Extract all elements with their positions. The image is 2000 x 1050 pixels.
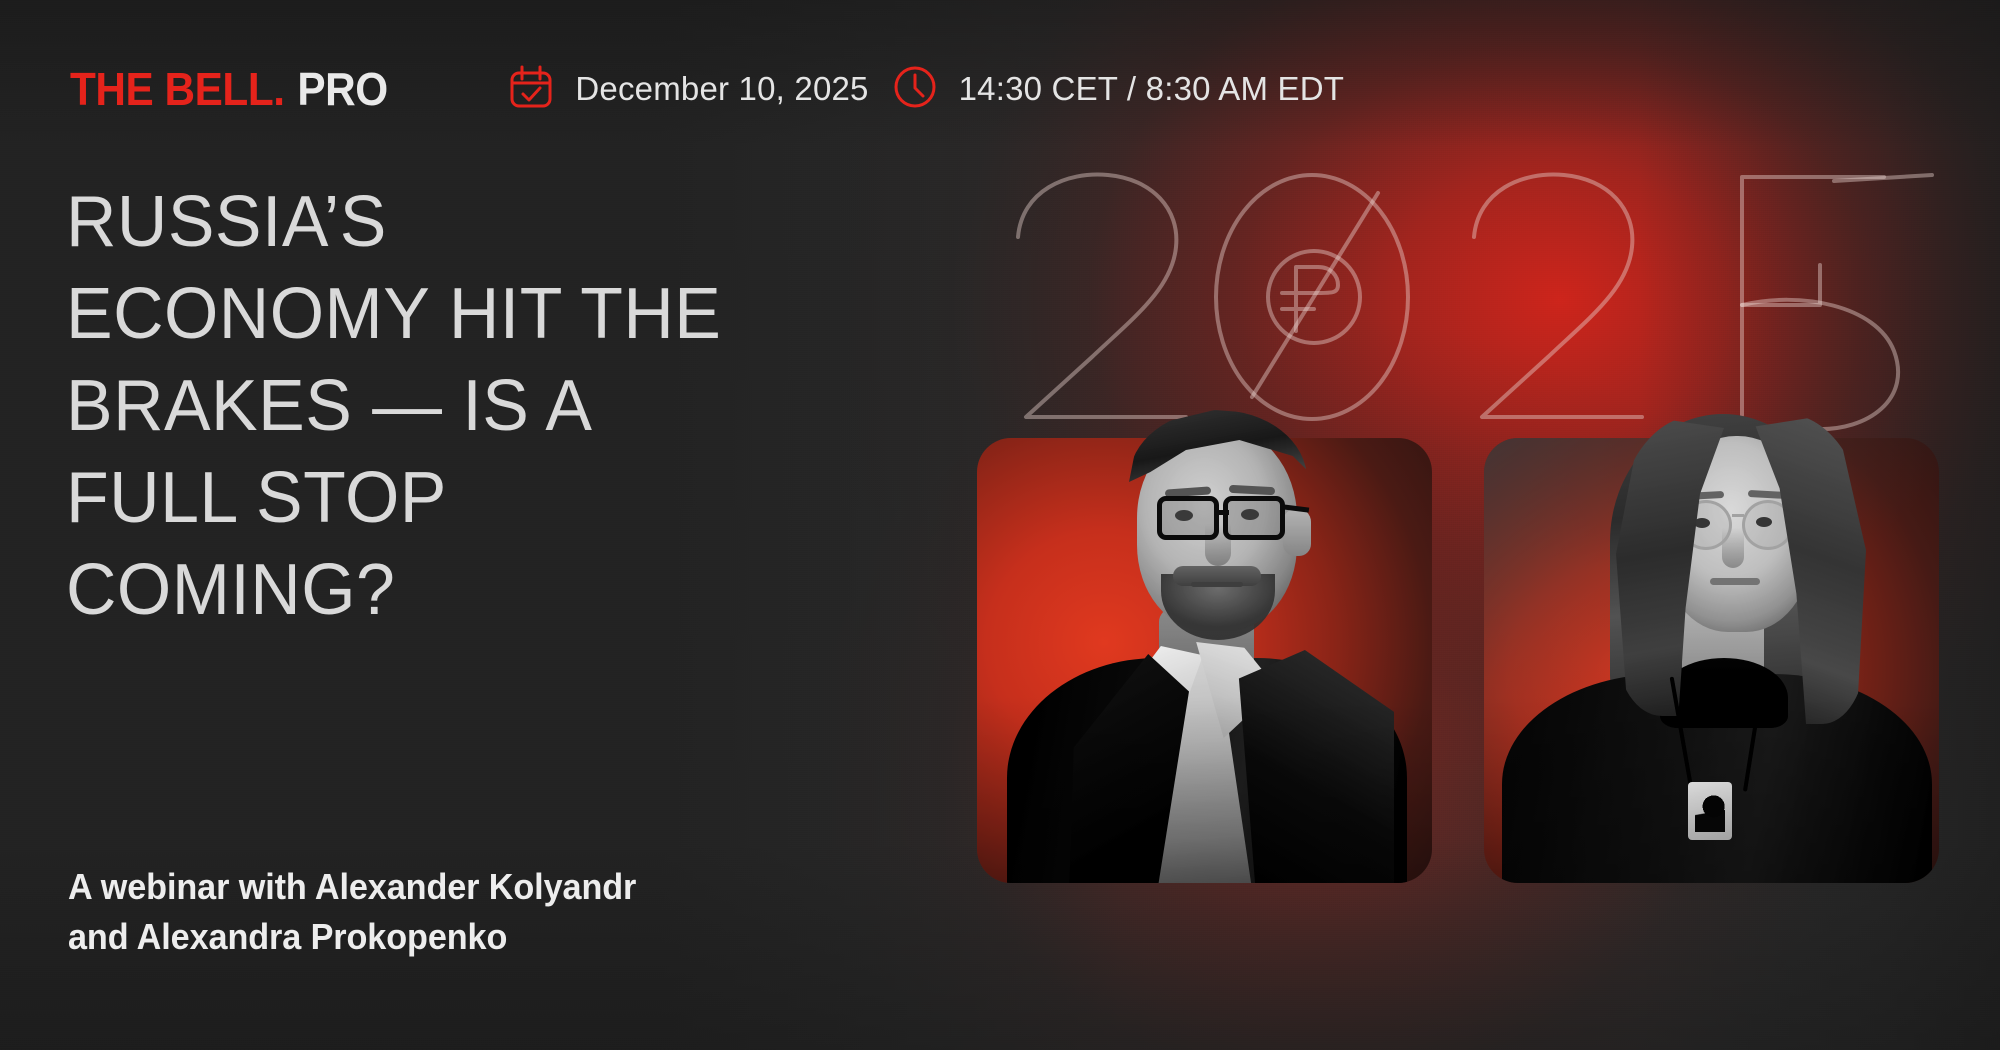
page-title: RUSSIA’S ECONOMY HIT THE BRAKES — IS A F… [66,176,726,636]
event-date-group: December 10, 2025 [507,63,868,116]
clock-icon [891,63,939,116]
brand-logo-secondary: PRO [297,62,387,116]
event-time-group: 14:30 CET / 8:30 AM EDT [891,63,1345,116]
webinar-promo-banner: THE BELL. PRO December 10, 2025 [0,0,2000,1050]
event-meta: December 10, 2025 14:30 CET / 8:30 AM ED… [507,63,1344,116]
calendar-check-icon [507,63,555,116]
webinar-speakers-subtitle: A webinar with Alexander Kolyandr and Al… [68,862,733,962]
portrait-alexander-kolyandr [977,358,1432,883]
event-time: 14:30 CET / 8:30 AM EDT [959,70,1345,108]
header-bar: THE BELL. PRO December 10, 2025 [70,58,1344,120]
speaker-card-alexander-kolyandr [977,438,1432,883]
brand-logo[interactable]: THE BELL. PRO [70,62,388,116]
speaker-card-alexandra-prokopenko [1484,438,1939,883]
portrait-alexandra-prokopenko [1484,358,1939,883]
brand-logo-primary: THE BELL. [70,62,285,116]
event-date: December 10, 2025 [575,70,868,108]
